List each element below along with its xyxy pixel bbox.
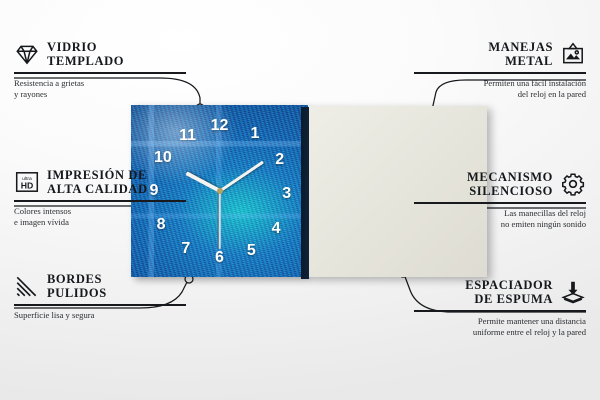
callout-subtitle: Permiten una fácil instalación del reloj… <box>414 78 586 101</box>
callout-head: VIDRIO TEMPLADO <box>14 40 186 68</box>
callout-rule <box>414 72 586 74</box>
polished-edge-icon <box>14 273 40 299</box>
callout-rule <box>14 72 186 74</box>
callout-mecanismo-silencioso[interactable]: MECANISMO SILENCIOSO Las manecillas del … <box>414 170 586 230</box>
clock-second-hand <box>219 191 221 249</box>
clock-numeral: 6 <box>215 250 224 266</box>
ultra-hd-icon: ultra HD <box>14 169 40 195</box>
foam-spacer-icon <box>560 279 586 305</box>
callout-title: BORDES PULIDOS <box>47 272 107 300</box>
diamond-icon <box>14 41 40 67</box>
clock-side-edge <box>301 107 309 279</box>
callout-bordes-pulidos[interactable]: BORDES PULIDOS Superficie lisa y segura <box>14 272 186 321</box>
clock-numeral: 4 <box>272 221 281 237</box>
callout-subtitle: Resistencia a grietas y rayones <box>14 78 186 101</box>
callout-subtitle: Superficie lisa y segura <box>14 310 186 321</box>
callout-title: IMPRESIÓN DE ALTA CALIDAD <box>47 168 148 196</box>
callout-title: MANEJAS METAL <box>488 40 553 68</box>
callout-manejas-metal[interactable]: MANEJAS METAL Permiten una fácil instala… <box>414 40 586 100</box>
callout-espaciador-espuma[interactable]: ESPACIADOR DE ESPUMA Permite mantener un… <box>414 278 586 338</box>
clock-numeral: 5 <box>247 243 256 259</box>
clock-hour-hand <box>185 171 220 192</box>
clock-numeral: 1 <box>250 126 259 142</box>
callout-rule <box>414 202 586 204</box>
clock-numeral: 3 <box>282 186 291 202</box>
hanging-frame-icon <box>560 41 586 67</box>
clock-center-cap <box>217 188 223 194</box>
callout-rule <box>14 304 186 306</box>
callout-impresion-alta-calidad[interactable]: ultra HD IMPRESIÓN DE ALTA CALIDAD Color… <box>14 168 186 228</box>
clock-numeral: 10 <box>154 150 172 166</box>
clock-numeral: 7 <box>181 241 190 257</box>
clock-minute-hand <box>219 161 264 193</box>
clock-numeral: 2 <box>275 152 284 168</box>
callout-rule <box>14 200 186 202</box>
callout-title: MECANISMO SILENCIOSO <box>467 170 553 198</box>
callout-subtitle: Permite mantener una distancia uniforme … <box>414 316 586 339</box>
callout-head: BORDES PULIDOS <box>14 272 186 300</box>
clock-numeral: 12 <box>211 118 229 134</box>
callout-head: MECANISMO SILENCIOSO <box>414 170 586 198</box>
callout-title: ESPACIADOR DE ESPUMA <box>465 278 553 306</box>
callout-subtitle: Las manecillas del reloj no emiten ningú… <box>414 208 586 231</box>
clock-numeral: 11 <box>179 128 196 144</box>
callout-title: VIDRIO TEMPLADO <box>47 40 124 68</box>
callout-subtitle: Colores intensos e imagen vívida <box>14 206 186 229</box>
callout-head: ESPACIADOR DE ESPUMA <box>414 278 586 306</box>
callout-vidrio-templado[interactable]: VIDRIO TEMPLADO Resistencia a grietas y … <box>14 40 186 100</box>
infographic-stage: 12 1 2 3 4 5 6 7 8 9 10 11 <box>0 0 600 400</box>
gear-icon <box>560 171 586 197</box>
callout-head: ultra HD IMPRESIÓN DE ALTA CALIDAD <box>14 168 186 196</box>
callout-head: MANEJAS METAL <box>414 40 586 68</box>
svg-text:HD: HD <box>21 181 34 191</box>
callout-rule <box>414 310 586 312</box>
